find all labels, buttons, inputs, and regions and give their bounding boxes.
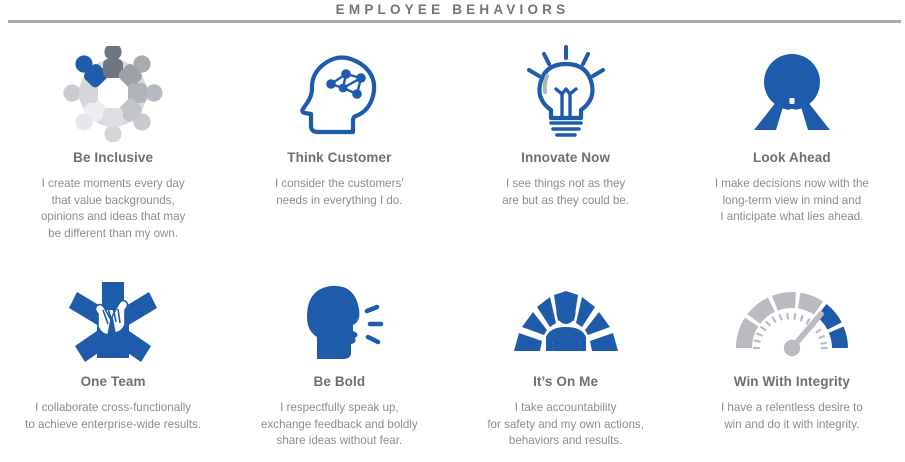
behavior-description: I create moments every day that value ba… [41,176,185,242]
behavior-title: Innovate Now [521,150,610,165]
behavior-description: I collaborate cross-functionally to achi… [25,400,201,433]
behavior-card-win-with-integrity[interactable]: Win With Integrity I have a relentless d… [679,262,905,462]
gauge-icon [734,276,850,368]
behavior-title: Be Bold [314,374,366,389]
page-header: EMPLOYEE BEHAVIORS [0,0,905,30]
head-network-icon [291,44,387,144]
hands-together-icon [67,276,159,368]
people-circle-icon [59,44,167,144]
behavior-card-think-customer[interactable]: Think Customer I consider the customers’… [226,30,452,262]
page-title: EMPLOYEE BEHAVIORS [0,2,905,17]
behavior-title: Think Customer [287,150,391,165]
road-horizon-icon [742,44,842,144]
behavior-description: I see things not as they are but as they… [502,176,629,209]
person-rays-icon [506,276,626,368]
speaking-head-icon [291,276,387,368]
behavior-title: Win With Integrity [734,374,850,389]
behavior-title: It’s On Me [533,374,598,389]
header-divider [8,20,901,23]
behavior-card-innovate-now[interactable]: Innovate Now I see things not as they ar… [453,30,679,262]
behaviors-grid: Be Inclusive I create moments every day … [0,30,905,462]
behavior-description: I make decisions now with the long-term … [715,176,869,226]
behavior-description: I take accountability for safety and my … [487,400,644,450]
employee-behaviors-page: EMPLOYEE BEHAVIORS [0,0,905,462]
behavior-title: Be Inclusive [73,150,153,165]
lightbulb-icon [518,44,614,144]
behavior-card-its-on-me[interactable]: It’s On Me I take accountability for saf… [453,262,679,462]
behavior-description: I respectfully speak up, exchange feedba… [261,400,418,450]
behavior-title: One Team [81,374,146,389]
behavior-card-be-inclusive[interactable]: Be Inclusive I create moments every day … [0,30,226,262]
behavior-description: I have a relentless desire to win and do… [721,400,863,433]
behavior-card-one-team[interactable]: One Team I collaborate cross-functionall… [0,262,226,462]
behavior-card-be-bold[interactable]: Be Bold I respectfully speak up, exchang… [226,262,452,462]
behavior-card-look-ahead[interactable]: Look Ahead I make decisions now with the… [679,30,905,262]
behavior-description: I consider the customers’ needs in every… [275,176,404,209]
behavior-title: Look Ahead [753,150,831,165]
